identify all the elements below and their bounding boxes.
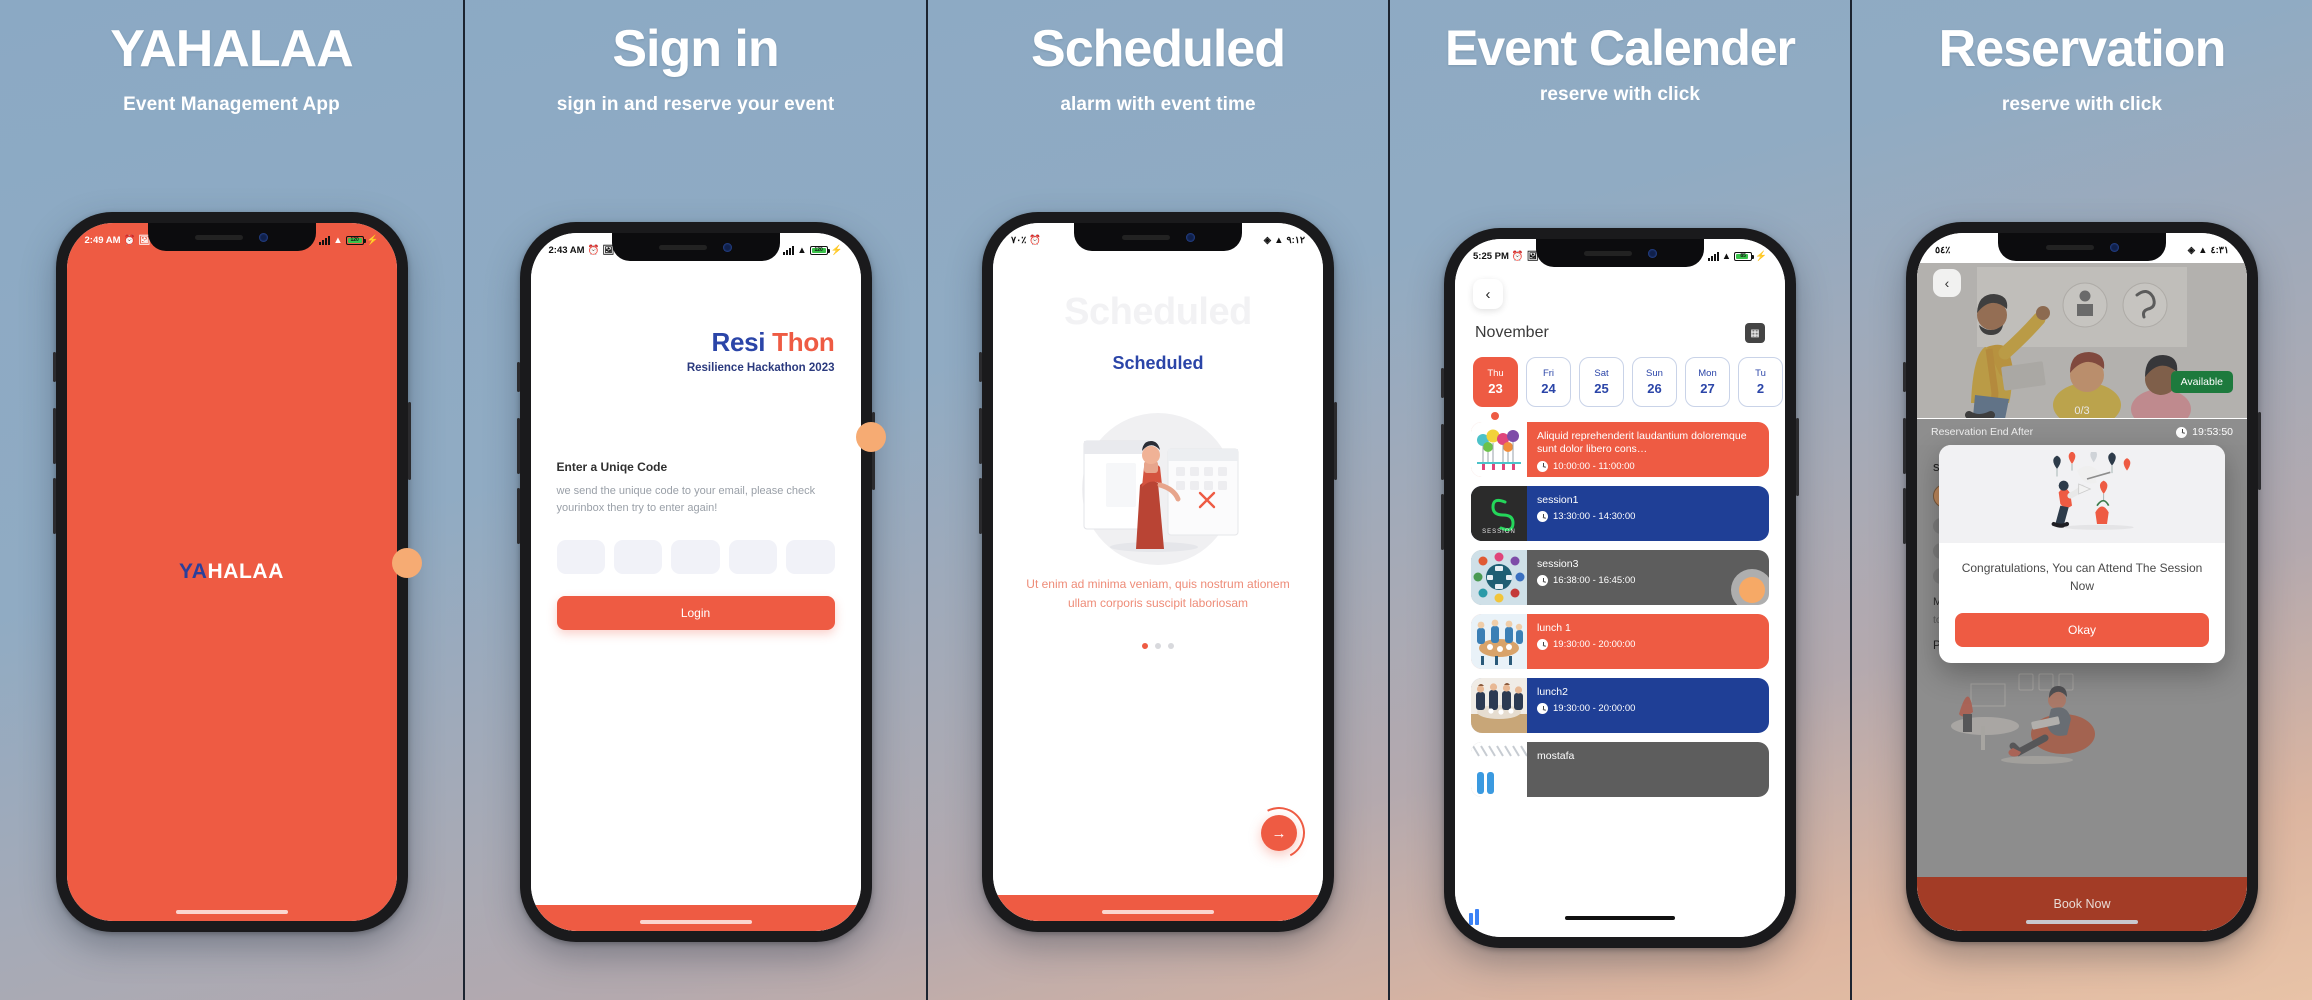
status-right: ◈ ▲ ٤:٣١ <box>2188 245 2229 256</box>
status-time: 2:49 AM <box>85 235 121 246</box>
event-card[interactable]: lunch 1 19:30:00 - 20:00:00 <box>1471 614 1769 669</box>
event-card[interactable]: SESSION session1 13:30:00 - 14:30:00 <box>1471 486 1769 541</box>
clock-icon <box>1537 639 1548 650</box>
wifi-icon: ▲ <box>797 245 806 256</box>
status-battery-pct: ٥٤٪ <box>1935 245 1950 256</box>
panel-header: Reservation reserve with click <box>1852 0 2312 116</box>
code-digit-input[interactable] <box>614 540 662 574</box>
scheduled-title: Scheduled <box>993 353 1323 374</box>
event-time-row: 16:38:00 - 16:45:00 <box>1537 575 1759 586</box>
mute-switch <box>1441 368 1444 398</box>
scheduled-description: Ut enim ad minima veniam, quis nostrum a… <box>1015 575 1301 613</box>
phone-mockup-reservation: ‹ Available 0/3 Reservation End After 19… <box>1906 222 2258 942</box>
brand-name: Resi Thon <box>557 327 835 358</box>
panel-subtitle: alarm with event time <box>928 94 1388 116</box>
signal-icon <box>319 236 330 245</box>
charging-icon: ⚡ <box>831 245 843 256</box>
panel-title: Reservation <box>1852 22 2312 76</box>
panel-title: Scheduled <box>928 22 1388 76</box>
capacity-count: 0/3 <box>1917 405 2247 417</box>
front-camera-icon <box>1186 233 1195 242</box>
page-dot-3[interactable] <box>1168 643 1174 649</box>
code-digit-input[interactable] <box>786 540 834 574</box>
date-day: 23 <box>1488 381 1502 396</box>
panel-yahalaa: YAHALAA Event Management App YAHALAA <box>0 0 463 1000</box>
event-name: session3 <box>1537 558 1759 571</box>
phone-mockup-scheduled: Scheduled Scheduled <box>982 212 1334 932</box>
panel-subtitle: reserve with click <box>1852 94 2312 116</box>
selected-date-dot <box>1491 412 1499 420</box>
clock-icon <box>1537 511 1548 522</box>
reservation-end-bar: Reservation End After 19:53:50 <box>1917 419 2247 445</box>
svg-text:SESSION: SESSION <box>1482 529 1516 535</box>
event-time-row: 19:30:00 - 20:00:00 <box>1537 703 1759 714</box>
scroll-indicator[interactable] <box>1565 916 1675 920</box>
person-beanbag-illustration <box>1933 660 2113 770</box>
brand-block: Resi Thon Resilience Hackathon 2023 <box>557 327 835 374</box>
bluetooth-icon: ◈ <box>2188 245 2195 256</box>
wifi-icon: ▲ <box>1722 251 1731 262</box>
month-label: November <box>1475 324 1549 342</box>
panel-reservation: Reservation reserve with click <box>1850 0 2312 1000</box>
code-digit-input[interactable] <box>729 540 777 574</box>
bluetooth-icon: ◈ <box>1264 235 1271 246</box>
event-time: 19:30:00 - 20:00:00 <box>1553 639 1635 650</box>
availability-badge: Available <box>2171 371 2233 393</box>
speaker-grille <box>659 245 707 250</box>
volume-down-button <box>1903 488 1906 544</box>
brand-name-second: Thon <box>772 327 834 357</box>
alarm-icon: ⏰ <box>124 235 136 246</box>
home-indicator[interactable] <box>176 910 288 914</box>
status-battery-pct: ٧٠٪ <box>1011 235 1026 246</box>
date-day: 24 <box>1541 381 1555 396</box>
volume-up-button <box>1441 424 1444 480</box>
back-button[interactable]: ‹ <box>1933 269 1961 297</box>
panel-subtitle: reserve with click <box>1390 84 1850 106</box>
date-weekday: Sun <box>1646 368 1663 379</box>
date-weekday: Tu <box>1755 368 1766 379</box>
speaker-grille <box>1584 251 1632 256</box>
panel-title: Event Calender <box>1390 22 1850 74</box>
phone-notch <box>148 223 316 251</box>
panel-title: YAHALAA <box>0 22 463 76</box>
event-card[interactable]: lunch2 19:30:00 - 20:00:00 <box>1471 678 1769 733</box>
reservation-end-value: 19:53:50 <box>2192 426 2233 438</box>
status-time: 5:25 PM <box>1473 251 1509 262</box>
splash-screen: YAHALAA <box>67 223 397 921</box>
date-strip[interactable]: Thu 23 Fri 24 Sat 25 <box>1455 343 1785 407</box>
login-button[interactable]: Login <box>557 596 835 630</box>
session-hero-illustration <box>1917 263 2247 418</box>
status-time: ٤:٣١ <box>2211 245 2229 256</box>
reservation-end-label: Reservation End After <box>1931 426 2033 438</box>
wifi-icon: ▲ <box>2198 245 2207 256</box>
clock-icon <box>2176 427 2187 438</box>
event-time: 19:30:00 - 20:00:00 <box>1553 703 1635 714</box>
watermark-text: Scheduled <box>993 291 1323 334</box>
volume-down-button <box>53 478 56 534</box>
logo-part-first: YA <box>179 560 207 583</box>
phone-notch <box>1998 233 2166 261</box>
event-meta: session3 16:38:00 - 16:45:00 <box>1527 550 1769 605</box>
add-event-fab[interactable] <box>1739 577 1765 603</box>
panel-title: Sign in <box>465 22 926 76</box>
panel-header: Event Calender reserve with click <box>1390 0 1850 106</box>
code-input-row <box>557 540 835 574</box>
event-meta: lunch2 19:30:00 - 20:00:00 <box>1527 678 1769 733</box>
charging-icon: ⚡ <box>1755 251 1767 262</box>
panel-header: Sign in sign in and reserve your event <box>465 0 926 116</box>
event-name: mostafa <box>1537 750 1759 763</box>
sign-in-screen: Resi Thon Resilience Hackathon 2023 Ente… <box>531 233 861 931</box>
event-meta: mostafa <box>1527 742 1769 797</box>
alarm-icon: ⏰ <box>1512 251 1524 262</box>
month-header: November ▦ <box>1455 309 1785 343</box>
reservation-end-value-row: 19:53:50 <box>2176 426 2233 438</box>
lunch-meeting-thumb <box>1471 678 1527 733</box>
panel-header: YAHALAA Event Management App <box>0 0 463 116</box>
battery-icon: 120 <box>810 246 828 255</box>
battery-icon: 85 <box>1734 252 1752 261</box>
calendar-screen: ‹ November ▦ Thu 23 Fri <box>1455 239 1785 937</box>
status-time: 2:43 AM <box>549 245 585 256</box>
charging-icon: ⚡ <box>367 235 379 246</box>
status-left: ٧٠٪ ⏰ <box>1011 235 1041 246</box>
volume-down-button <box>1441 494 1444 550</box>
status-time: ٩:١٢ <box>1287 235 1305 246</box>
event-name: lunch 1 <box>1537 622 1759 635</box>
celebration-illustration <box>1939 445 2225 543</box>
volume-down-button <box>979 478 982 534</box>
event-time-row: 19:30:00 - 20:00:00 <box>1537 639 1759 650</box>
roundtable-thumb <box>1471 550 1527 605</box>
event-meta: session1 13:30:00 - 14:30:00 <box>1527 486 1769 541</box>
floating-orb <box>392 548 422 578</box>
reservation-screen: ‹ Available 0/3 Reservation End After 19… <box>1917 233 2247 931</box>
panel-sign-in: Sign in sign in and reserve your event R… <box>463 0 926 1000</box>
battery-icon: 120 <box>346 236 364 245</box>
event-meta: lunch 1 19:30:00 - 20:00:00 <box>1527 614 1769 669</box>
speaker-grille <box>2046 245 2094 250</box>
page-indicator[interactable] <box>993 643 1323 649</box>
arrow-right-icon: → <box>1272 825 1287 842</box>
status-left: 2:43 AM ⏰ 🖼 <box>549 245 615 256</box>
status-right: ▲ 85 ⚡ <box>1708 251 1767 262</box>
date-chip-selected[interactable]: Thu 23 <box>1473 357 1518 407</box>
clock-icon <box>1537 703 1548 714</box>
scheduled-screen: Scheduled Scheduled <box>993 223 1323 921</box>
page-dot-2[interactable] <box>1155 643 1161 649</box>
date-day: 27 <box>1700 381 1714 396</box>
volume-up-button <box>517 418 520 474</box>
calendar-person-illustration <box>1050 401 1266 567</box>
calendar-icon[interactable]: ▦ <box>1745 323 1765 343</box>
logo-part-second: HALAA <box>207 560 284 583</box>
lunch-table-thumb <box>1471 614 1527 669</box>
mute-switch <box>517 362 520 392</box>
congratulations-dialog: Congratulations, You can Attend The Sess… <box>1939 445 2225 663</box>
event-time-row: 13:30:00 - 14:30:00 <box>1537 511 1759 522</box>
event-card[interactable]: Aliquid reprehenderit laudantium dolorem… <box>1471 422 1769 477</box>
event-card[interactable]: mostafa <box>1471 742 1769 797</box>
panel-event-calendar: Event Calender reserve with click ‹ Nove… <box>1388 0 1850 1000</box>
panel-subtitle: sign in and reserve your event <box>465 94 926 116</box>
bottom-accent-bar <box>993 895 1323 921</box>
status-left: 2:49 AM ⏰ 🖼 <box>85 235 151 246</box>
dialog-message: Congratulations, You can Attend The Sess… <box>1939 543 2225 599</box>
brand-tagline: Resilience Hackathon 2023 <box>557 362 835 374</box>
speaker-grille <box>1122 235 1170 240</box>
event-meta: Aliquid reprehenderit laudantium dolorem… <box>1527 422 1769 477</box>
app-showcase: YAHALAA Event Management App YAHALAA <box>0 0 2312 1000</box>
status-right: ◈ ▲ ٩:١٢ <box>1264 235 1305 246</box>
code-digit-input[interactable] <box>671 540 719 574</box>
alarm-icon: ⏰ <box>1029 235 1041 246</box>
mute-switch <box>1903 362 1906 392</box>
phone-notch <box>1074 223 1242 251</box>
phone-mockup-signin: Resi Thon Resilience Hackathon 2023 Ente… <box>520 222 872 942</box>
front-camera-icon <box>723 243 732 252</box>
date-day: 26 <box>1647 381 1661 396</box>
event-name: lunch2 <box>1537 686 1759 699</box>
signal-icon <box>783 246 794 255</box>
status-left: 5:25 PM ⏰ 🖼 <box>1473 251 1539 262</box>
volume-up-button <box>1903 418 1906 474</box>
front-camera-icon <box>1648 249 1657 258</box>
okay-button[interactable]: Okay <box>1955 613 2209 647</box>
volume-down-button <box>517 488 520 544</box>
front-camera-icon <box>259 233 268 242</box>
bottom-accent-bar <box>531 905 861 931</box>
panel-scheduled: Scheduled alarm with event time Schedule… <box>926 0 1388 1000</box>
date-weekday: Sat <box>1594 368 1608 379</box>
market-stall-thumb <box>1471 742 1527 797</box>
event-time: 16:38:00 - 16:45:00 <box>1553 575 1635 586</box>
date-chip[interactable]: Tu 2 <box>1738 357 1783 407</box>
wifi-icon: ▲ <box>333 235 342 246</box>
page-dot-1[interactable] <box>1142 643 1148 649</box>
date-day: 2 <box>1757 381 1764 396</box>
clock-icon <box>1537 575 1548 586</box>
phone-notch <box>612 233 780 261</box>
front-camera-icon <box>2110 243 2119 252</box>
date-weekday: Fri <box>1543 368 1554 379</box>
date-day: 25 <box>1594 381 1608 396</box>
event-name: session1 <box>1537 494 1759 507</box>
event-list: Aliquid reprehenderit laudantium dolorem… <box>1455 420 1785 797</box>
audio-bars-icon <box>1469 909 1479 925</box>
brand-name-first: Resi <box>712 327 766 357</box>
status-right: ▲ 120 ⚡ <box>319 235 378 246</box>
status-right: ▲ 120 ⚡ <box>783 245 842 256</box>
status-left: ٥٤٪ <box>1935 245 1950 256</box>
event-time-row: 10:00:00 - 11:00:00 <box>1537 461 1759 472</box>
wifi-icon: ▲ <box>1274 235 1283 246</box>
date-chip[interactable]: Sun 26 <box>1632 357 1677 407</box>
session-logo-thumb: SESSION <box>1471 486 1527 541</box>
alarm-icon: ⏰ <box>588 245 600 256</box>
speaker-grille <box>195 235 243 240</box>
volume-up-button <box>53 408 56 464</box>
mute-switch <box>53 352 56 382</box>
home-indicator[interactable] <box>1102 910 1214 914</box>
next-button[interactable]: → <box>1261 815 1297 851</box>
app-logo: YAHALAA <box>179 560 284 584</box>
home-indicator[interactable] <box>640 920 752 924</box>
balloons-thumb <box>1471 422 1527 477</box>
event-name: Aliquid reprehenderit laudantium dolorem… <box>1537 430 1759 457</box>
date-chip[interactable]: Sat 25 <box>1579 357 1624 407</box>
volume-up-button <box>979 408 982 464</box>
code-field-label: Enter a Uniqe Code <box>557 460 835 474</box>
signal-icon <box>1708 252 1719 261</box>
panel-header: Scheduled alarm with event time <box>928 0 1388 116</box>
code-field-help: we send the unique code to your email, p… <box>557 483 835 516</box>
home-indicator[interactable] <box>2026 920 2138 924</box>
mute-switch <box>979 352 982 382</box>
phone-mockup-splash: YAHALAA 2:49 AM ⏰ 🖼 <box>56 212 408 932</box>
event-time: 13:30:00 - 14:30:00 <box>1553 511 1635 522</box>
phone-mockup-calendar: ‹ November ▦ Thu 23 Fri <box>1444 228 1796 948</box>
code-digit-input[interactable] <box>557 540 605 574</box>
clock-icon <box>1537 461 1548 472</box>
event-card[interactable]: session3 16:38:00 - 16:45:00 <box>1471 550 1769 605</box>
phone-notch <box>1536 239 1704 267</box>
date-chip[interactable]: Mon 27 <box>1685 357 1730 407</box>
panel-subtitle: Event Management App <box>0 94 463 116</box>
date-chip[interactable]: Fri 24 <box>1526 357 1571 407</box>
floating-orb <box>856 422 886 452</box>
date-weekday: Mon <box>1698 368 1716 379</box>
event-time: 10:00:00 - 11:00:00 <box>1553 461 1635 472</box>
date-weekday: Thu <box>1487 368 1503 379</box>
back-button[interactable]: ‹ <box>1473 279 1503 309</box>
